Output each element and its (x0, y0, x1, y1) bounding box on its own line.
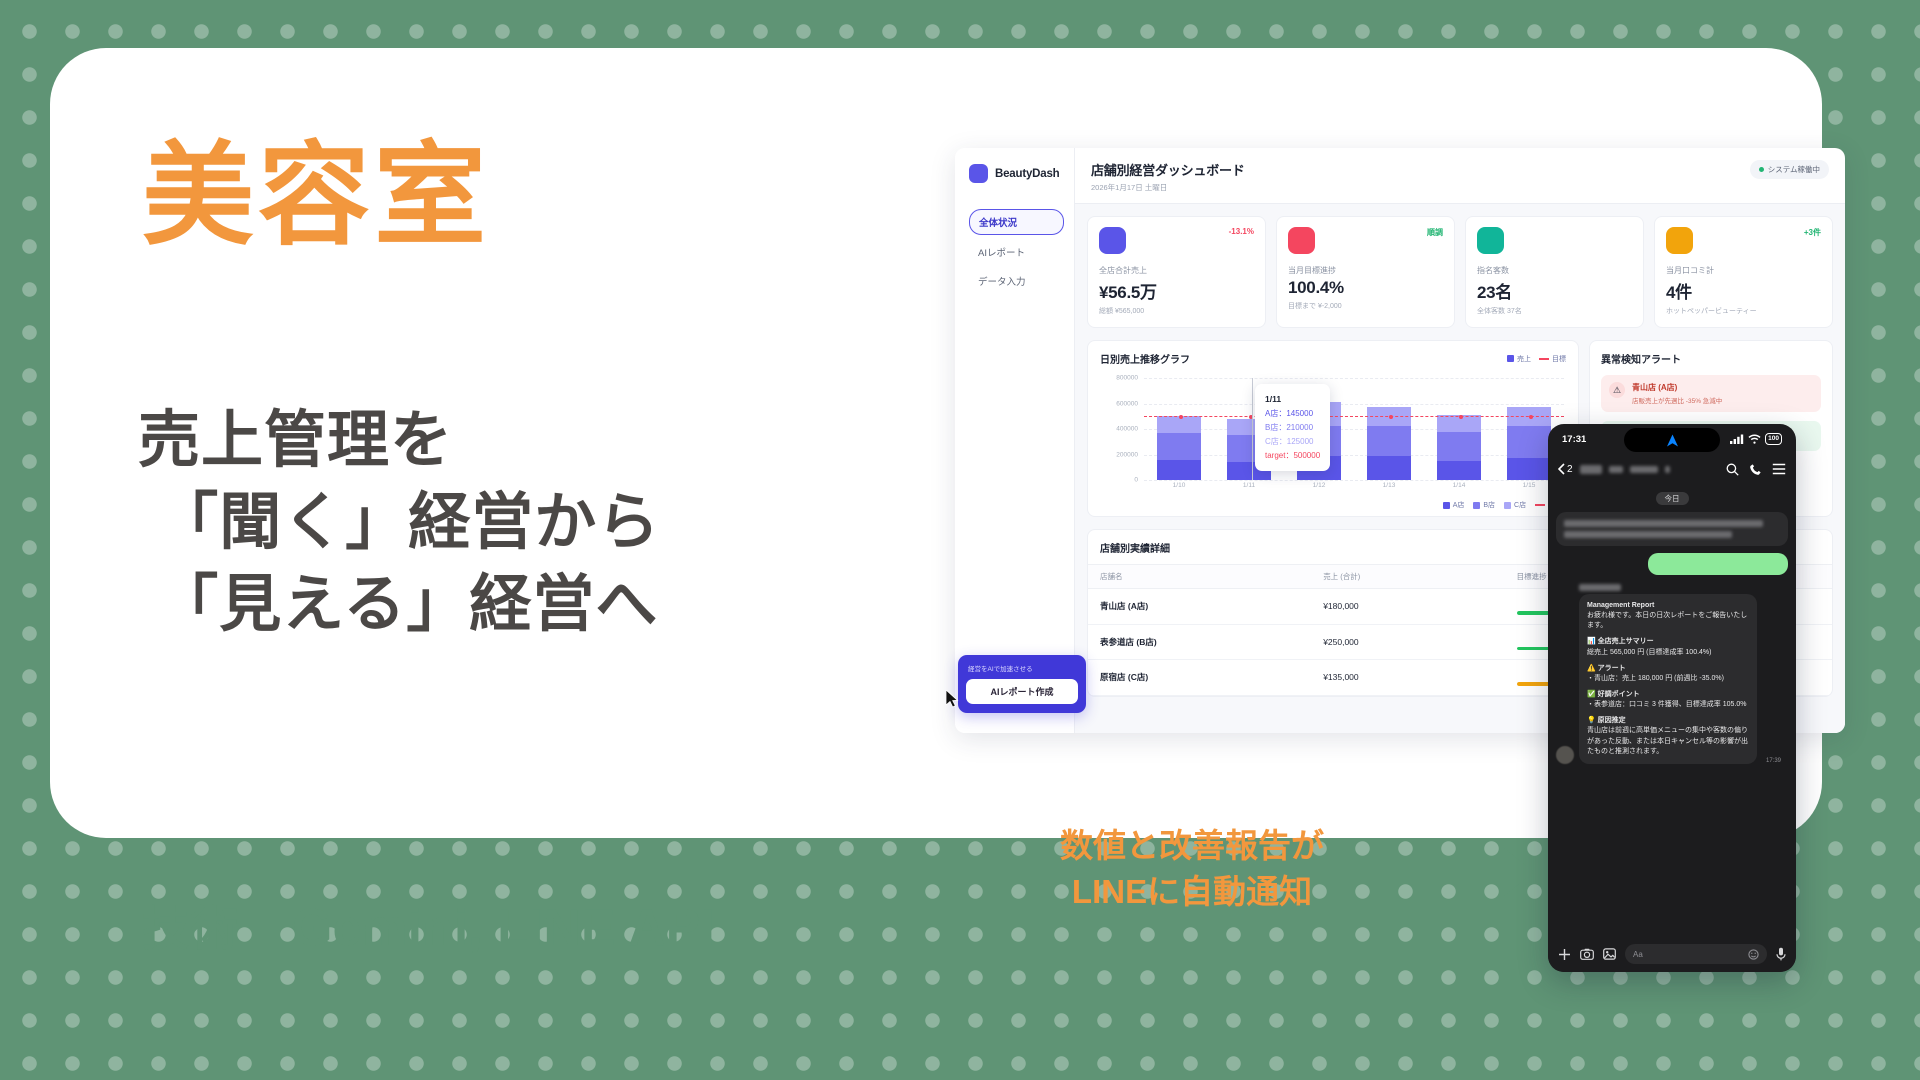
legend-C店[interactable]: C店 (1504, 500, 1526, 510)
brand-row: BeautyDash (969, 164, 1064, 183)
legend-label: B店 (1483, 500, 1495, 510)
tooltip-title: 1/11 (1265, 392, 1320, 407)
dashboard-sidebar: BeautyDash 全体状況 AIレポート データ入力 (955, 148, 1075, 733)
phone-icon[interactable] (1749, 463, 1762, 476)
message-input[interactable]: Aa (1625, 944, 1767, 964)
chart-title: 日別売上推移グラフ (1100, 351, 1190, 366)
bar-segment-B店 (1157, 433, 1200, 459)
kpi-label: 全店合計売上 (1099, 265, 1254, 276)
chart-y-axis: 0200000400000600000800000 (1100, 378, 1142, 480)
report-section-heading-0: 📊 全店売上サマリー (1587, 637, 1749, 647)
sidebar-item-data-entry[interactable]: データ入力 (969, 269, 1064, 293)
hamburger-menu-icon[interactable] (1772, 463, 1786, 475)
chart-x-axis: 1/101/111/121/131/141/15 (1144, 482, 1564, 496)
report-section-heading-3: 💡 原因推定 (1587, 716, 1749, 726)
kpi-delta: 順調 (1427, 227, 1443, 238)
chart-hover-cursor (1252, 378, 1253, 480)
y-axis-tick: 0 (1134, 477, 1138, 484)
report-section-body-0: 総売上 565,000 円 (目標達成率 100.4%) (1587, 648, 1749, 658)
cell-sales: ¥180,000 (1311, 589, 1504, 625)
bar-segment-A店 (1367, 456, 1410, 480)
status-badge: システム稼働中 (1750, 160, 1829, 179)
report-title: Management Report (1587, 601, 1749, 611)
legend-line-icon (1535, 504, 1545, 506)
battery-indicator: 100 (1765, 433, 1782, 445)
day-divider: 今日 (1556, 493, 1788, 504)
report-section-heading-1: ⚠️ アラート (1587, 664, 1749, 674)
section-heading: アラート (1598, 665, 1626, 672)
col-sales: 売上 (合計) (1311, 565, 1504, 589)
wifi-icon (1748, 434, 1761, 444)
management-report-message: Management Report お疲れ様です。本日の日次レポートをご報告いた… (1579, 594, 1757, 764)
y-axis-tick: 600000 (1116, 400, 1138, 407)
alert-title: 青山店 (A店) (1632, 382, 1722, 393)
bar-group[interactable] (1144, 378, 1214, 480)
bar-segment-A店 (1437, 461, 1480, 480)
hero-subtitle: 売上管理を 「聞く」経営から 「見える」経営へ (138, 400, 660, 645)
legend-label: C店 (1514, 500, 1526, 510)
blurred-text (1564, 520, 1763, 527)
kpi-icon (1099, 227, 1126, 254)
alert-item-aoyama[interactable]: ⚠ 青山店 (A店) 店販売上が先週比 -35% 急減中 (1601, 375, 1821, 412)
section-heading: 全店売上サマリー (1598, 638, 1654, 645)
tooltip-row-a: A店：145000 (1265, 407, 1320, 421)
kpi-label: 当月口コミ計 (1666, 265, 1821, 276)
col-store-name: 店舗名 (1088, 565, 1311, 589)
cell-sales: ¥135,000 (1311, 660, 1504, 696)
x-axis-tick: 1/11 (1214, 482, 1284, 496)
page-title: 美容室 (142, 134, 490, 257)
plus-icon[interactable] (1558, 948, 1571, 961)
dashboard-header: 店舗別経営ダッシュボード 2026年1月17日 土曜日 システム稼働中 (1075, 148, 1845, 204)
kpi-card-goal-progress[interactable]: 順調 当月目標進捗 100.4% 目標まで ¥-2,000 (1276, 216, 1455, 328)
daily-sales-chart-card: 日別売上推移グラフ 売上 目標 (1087, 340, 1579, 517)
status-badge-label: システム稼働中 (1768, 164, 1820, 175)
microphone-icon[interactable] (1776, 947, 1786, 961)
kpi-card-total-sales[interactable]: -13.1% 全店合計売上 ¥56.5万 総額 ¥565,000 (1087, 216, 1266, 328)
x-axis-tick: 1/13 (1354, 482, 1424, 496)
kpi-card-reviews[interactable]: +3件 当月口コミ計 4件 ホットペッパービューティー (1654, 216, 1833, 328)
chat-title-blurred (1630, 466, 1658, 473)
legend-line-icon (1539, 358, 1549, 360)
kpi-delta: +3件 (1804, 227, 1821, 238)
status-time: 17:31 (1562, 434, 1586, 445)
kpi-note: 全体客数 37名 (1477, 306, 1632, 316)
legend-label: A店 (1453, 500, 1465, 510)
y-axis-tick: 200000 (1116, 451, 1138, 458)
sidebar-item-overview[interactable]: 全体状況 (969, 209, 1064, 235)
kpi-label: 当月目標進捗 (1288, 265, 1443, 276)
chat-title-blurred (1609, 466, 1623, 473)
alerts-title: 異常検知アラート (1601, 351, 1821, 366)
day-divider-label: 今日 (1656, 492, 1689, 505)
chat-title-blurred (1580, 465, 1602, 474)
x-axis-tick: 1/14 (1424, 482, 1494, 496)
report-section-heading-2: ✅ 好調ポイント (1587, 690, 1749, 700)
ai-report-cta-card[interactable]: 経営をAIで加速させる AIレポート作成 (958, 655, 1086, 713)
phone-status-bar: 17:31 100 (1548, 424, 1796, 454)
ai-report-create-button[interactable]: AIレポート作成 (966, 679, 1078, 704)
mouse-pointer-icon (946, 690, 962, 708)
chat-header: 2 (1548, 454, 1796, 484)
section-heading: 原因推定 (1598, 717, 1626, 724)
chart-bars (1144, 378, 1564, 480)
search-icon[interactable] (1726, 463, 1739, 476)
sender-name-blurred (1579, 584, 1621, 591)
unread-count: 2 (1567, 464, 1573, 475)
tech-value: Gemini, LINE API (292, 898, 715, 958)
legend-A店[interactable]: A店 (1443, 500, 1465, 510)
chat-message-list: 今日 Management Report お疲れ様です。本日の日次レポートをご報… (1548, 484, 1796, 936)
kpi-value: 23名 (1477, 278, 1632, 303)
chart-plot-area: 0200000400000600000800000 1/101/111/121/… (1100, 378, 1566, 496)
kpi-value: 100.4% (1288, 278, 1443, 298)
bar-group[interactable] (1424, 378, 1494, 480)
cell-store-name: 原宿店 (C店) (1088, 660, 1311, 696)
warning-icon: ⚠️ (1587, 665, 1596, 672)
message-input-placeholder: Aa (1633, 950, 1643, 959)
bar-segment-A店 (1157, 460, 1200, 480)
sidebar-item-ai-report[interactable]: AIレポート (969, 240, 1064, 264)
legend-target: 目標 (1539, 354, 1566, 364)
chart-tooltip: 1/11 A店：145000 B店：210000 C店：125000 targe… (1255, 384, 1330, 471)
kpi-icon (1477, 227, 1504, 254)
cell-store-name: 表参道店 (B店) (1088, 624, 1311, 660)
phone-mockup: 17:31 100 2 (1548, 424, 1796, 972)
status-dot-icon (1759, 167, 1764, 172)
kpi-note: 目標まで ¥-2,000 (1288, 301, 1443, 311)
tooltip-row-target: target：500000 (1265, 449, 1320, 463)
legend-swatch-icon (1473, 502, 1480, 509)
arrow-right-icon (1462, 848, 1534, 896)
legend-swatch-icon (1443, 502, 1450, 509)
message-bubble-outgoing (1648, 553, 1788, 575)
image-icon[interactable] (1603, 948, 1616, 960)
kpi-icon (1666, 227, 1693, 254)
tooltip-row-c: C店：125000 (1265, 435, 1320, 449)
cell-store-name: 青山店 (A店) (1088, 589, 1311, 625)
kpi-icon (1288, 227, 1315, 254)
lightbulb-icon: 💡 (1587, 717, 1596, 724)
kpi-label: 指名客数 (1477, 265, 1632, 276)
section-heading: 好調ポイント (1598, 691, 1640, 698)
ai-report-caption: 経営をAIで加速させる (966, 663, 1078, 673)
cell-sales: ¥250,000 (1311, 624, 1504, 660)
app-logo-icon (969, 164, 988, 183)
bar-segment-B店 (1507, 426, 1550, 458)
kpi-value: ¥56.5万 (1099, 278, 1254, 303)
status-indicators: 100 (1730, 433, 1782, 445)
kpi-value: 4件 (1666, 278, 1821, 303)
kpi-card-nominated-customers[interactable]: 指名客数 23名 全体客数 37名 (1465, 216, 1644, 328)
chat-title-blurred (1665, 466, 1670, 473)
alert-desc: 店販売上が先週比 -35% 急減中 (1632, 395, 1722, 405)
chart-target-line (1144, 416, 1564, 417)
x-axis-tick: 1/12 (1284, 482, 1354, 496)
legend-label: 売上 (1517, 354, 1531, 364)
bar-chart-icon: 📊 (1587, 638, 1596, 645)
legend-B店[interactable]: B店 (1473, 500, 1495, 510)
brand-name: BeautyDash (995, 168, 1059, 180)
chart-legend-bottom: A店B店C店target (1100, 498, 1566, 510)
check-icon: ✅ (1587, 691, 1596, 698)
bar-group[interactable] (1354, 378, 1424, 480)
chart-legend-top: 売上 目標 (1507, 354, 1566, 364)
y-axis-tick: 800000 (1116, 375, 1138, 382)
avatar (1556, 746, 1574, 764)
chevron-left-icon (1558, 463, 1565, 475)
chat-input-bar: Aa (1548, 936, 1796, 972)
legend-swatch-icon (1507, 355, 1514, 362)
line-notify-caption: 数値と改善報告が LINEに自動通知 (1060, 823, 1324, 914)
tooltip-row-b: B店：210000 (1265, 421, 1320, 435)
bar-segment-A店 (1507, 458, 1550, 480)
message-bubble-blurred (1556, 512, 1788, 546)
camera-icon[interactable] (1580, 948, 1594, 960)
message-timestamp: 17:39 (1766, 758, 1781, 764)
bar-segment-B店 (1437, 432, 1480, 461)
kpi-note: 総額 ¥565,000 (1099, 306, 1254, 316)
dashboard-title: 店舗別経営ダッシュボード (1091, 160, 1245, 179)
location-arrow-icon (1666, 434, 1679, 447)
report-section-body-3: 青山店は前週に高単価メニューの集中や客数の偏りがあった反動、または本日キャンセル… (1587, 726, 1749, 756)
legend-swatch-icon (1504, 502, 1511, 509)
gridline (1144, 480, 1564, 481)
report-intro: お疲れ様です。本日の日次レポートをご報告いたします。 (1587, 611, 1749, 631)
back-button[interactable]: 2 (1558, 463, 1573, 475)
kpi-delta: -13.1% (1229, 227, 1254, 236)
emoji-icon[interactable] (1748, 949, 1759, 960)
y-axis-tick: 400000 (1116, 426, 1138, 433)
report-message-row: Management Report お疲れ様です。本日の日次レポートをご報告いた… (1556, 584, 1788, 764)
chat-header-actions (1726, 463, 1786, 476)
legend-sales: 売上 (1507, 354, 1531, 364)
tech-row: 技術 Gemini, LINE API (142, 890, 715, 959)
bar-segment-B店 (1367, 426, 1410, 456)
kpi-card-list: -13.1% 全店合計売上 ¥56.5万 総額 ¥565,000 順調 当月目標… (1087, 216, 1833, 328)
cellular-icon (1730, 434, 1744, 444)
report-section-body-2: ・表参道店：口コミ 3 件獲得、目標達成率 105.0% (1587, 700, 1749, 710)
legend-label: 目標 (1552, 354, 1566, 364)
tech-label: 技術 (142, 890, 240, 959)
dashboard-date: 2026年1月17日 土曜日 (1091, 182, 1245, 193)
phone-notch (1624, 428, 1720, 452)
warning-icon: ⚠ (1609, 382, 1625, 398)
report-section-body-1: ・青山店：売上 180,000 円 (前週比 -35.0%) (1587, 674, 1749, 684)
kpi-note: ホットペッパービューティー (1666, 306, 1821, 316)
x-axis-tick: 1/10 (1144, 482, 1214, 496)
blurred-text (1564, 531, 1732, 538)
